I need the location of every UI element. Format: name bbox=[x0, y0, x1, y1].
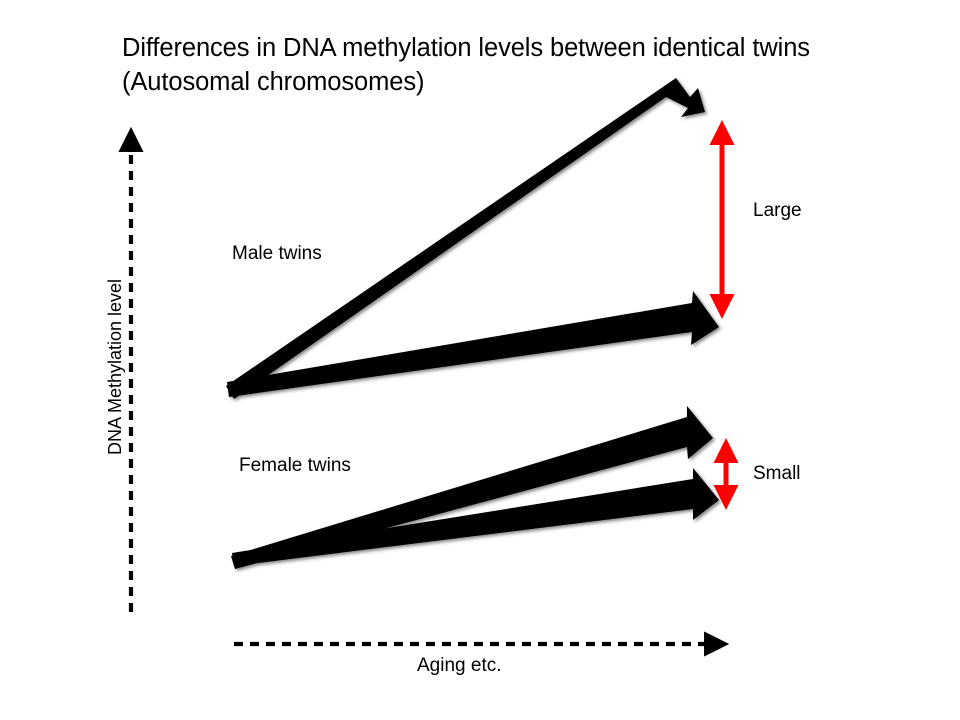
twin-methylation-diagram bbox=[0, 0, 960, 720]
x-axis-label: Aging etc. bbox=[417, 655, 502, 677]
large-gap-label: Large bbox=[753, 200, 802, 222]
y-axis-label: DNA Methylation level bbox=[105, 242, 126, 492]
female-twins-arrow-group bbox=[231, 406, 719, 569]
slide-canvas: Differences in DNA methylation levels be… bbox=[0, 0, 960, 720]
male-twins-label: Male twins bbox=[232, 243, 322, 265]
male-twins-arrow-group bbox=[226, 78, 719, 399]
small-gap-label: Small bbox=[753, 463, 801, 485]
female-twins-label: Female twins bbox=[239, 455, 351, 477]
